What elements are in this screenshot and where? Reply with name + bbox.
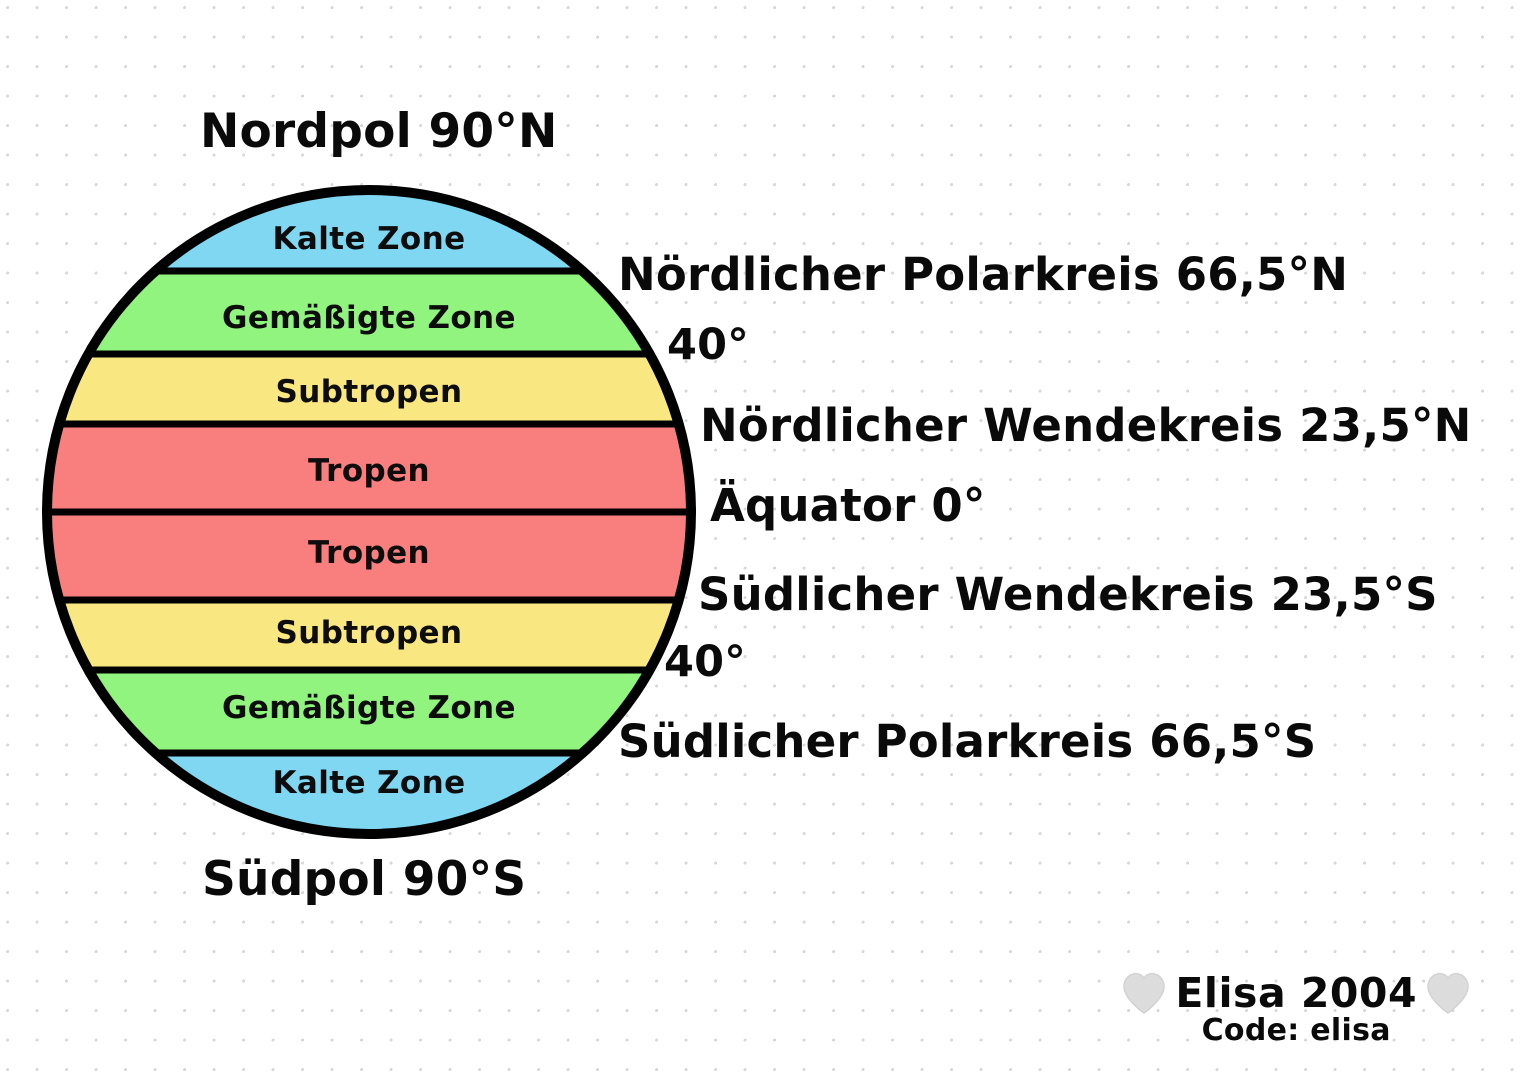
south-40-label: 40° bbox=[664, 637, 746, 687]
band-tropen-sued bbox=[34, 512, 704, 600]
north-pole-label: Nordpol 90°N bbox=[200, 104, 558, 159]
band-subtropen-sued bbox=[34, 600, 704, 670]
tropic-capricorn-label: Südlicher Wendekreis 23,5°S bbox=[698, 568, 1438, 621]
signature-name-row: Elisa 2004 bbox=[1121, 969, 1471, 1017]
zone-bands bbox=[34, 175, 704, 853]
equator-label: Äquator 0° bbox=[710, 479, 986, 532]
signature-code: Code: elisa bbox=[1121, 1013, 1471, 1048]
heart-icon-right bbox=[1425, 971, 1471, 1015]
band-subtropen-nord bbox=[34, 354, 704, 424]
climate-zone-globe: Kalte Zone Gemäßigte Zone Subtropen Trop… bbox=[44, 185, 694, 839]
worksheet-page: Nordpol 90°N bbox=[0, 0, 1525, 1080]
north-40-label: 40° bbox=[667, 320, 749, 370]
band-gemaessigte-zone-nord bbox=[34, 271, 704, 354]
signature-name: Elisa 2004 bbox=[1175, 969, 1417, 1017]
band-gemaessigte-zone-sued bbox=[34, 670, 704, 753]
globe-svg bbox=[44, 185, 694, 839]
heart-icon-left bbox=[1121, 971, 1167, 1015]
tropic-cancer-label: Nördlicher Wendekreis 23,5°N bbox=[700, 399, 1472, 452]
antarctic-circle-label: Südlicher Polarkreis 66,5°S bbox=[618, 715, 1316, 768]
arctic-circle-label: Nördlicher Polarkreis 66,5°N bbox=[618, 248, 1348, 301]
band-tropen-nord bbox=[34, 424, 704, 512]
signature-block: Elisa 2004 Code: elisa bbox=[1121, 969, 1471, 1048]
south-pole-label: Südpol 90°S bbox=[202, 852, 526, 907]
